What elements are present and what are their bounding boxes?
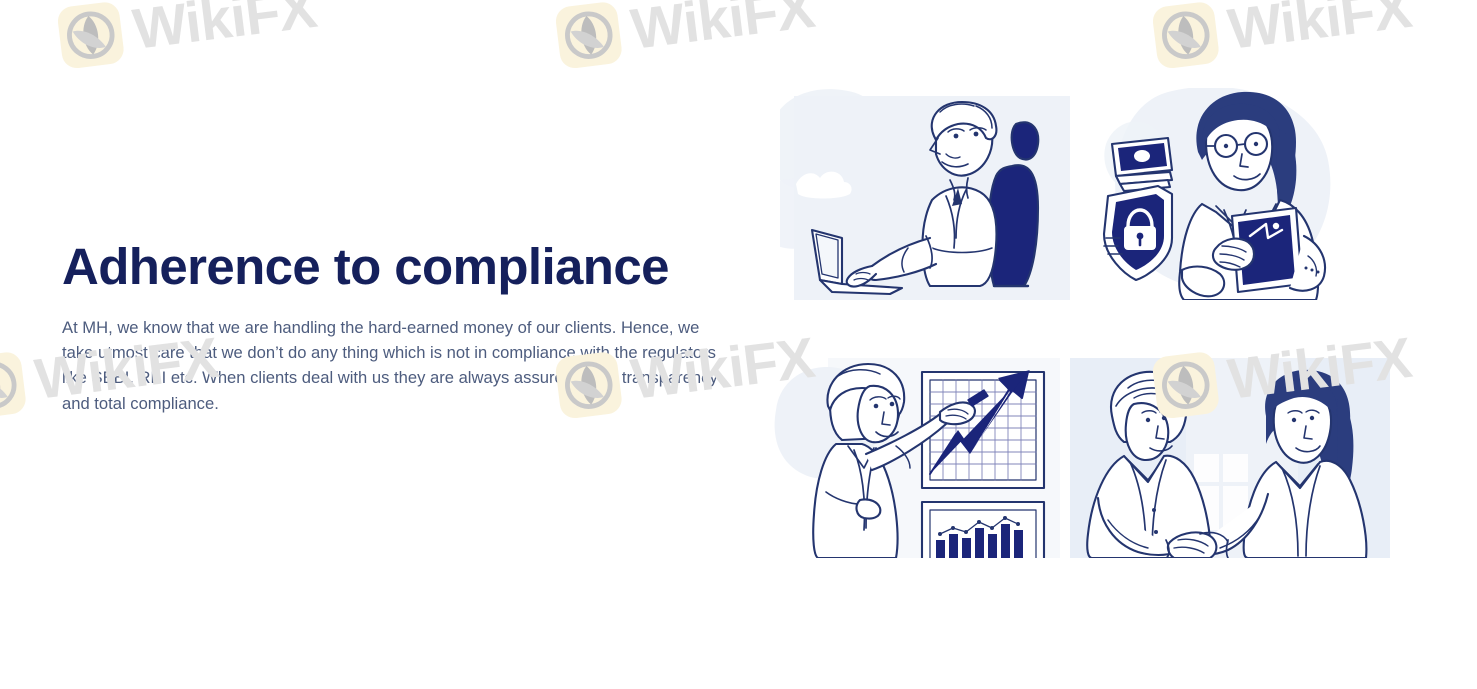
watermark-label: WikiFX [1225, 0, 1414, 58]
wikifx-aperture-logo-icon [554, 1, 623, 70]
content-block: Adherence to compliance At MH, we know t… [62, 240, 722, 416]
illustration-person-at-laptop [780, 88, 1070, 300]
illustration-business-handshake [1070, 358, 1390, 558]
wikifx-aperture-logo-icon [1151, 1, 1220, 70]
wikifx-aperture-logo-icon [56, 1, 125, 70]
illustration-grid [770, 78, 1410, 556]
watermark-label: WikiFX [628, 0, 817, 58]
watermark-top-left: WikiFX [56, 0, 319, 70]
illustration-woman-with-tablet-security [1090, 88, 1380, 300]
page-root: Adherence to compliance At MH, we know t… [0, 0, 1477, 689]
illustration-person-pointing-growth-chart [770, 358, 1060, 558]
wikifx-aperture-logo-icon [0, 351, 27, 420]
watermark-top-right: WikiFX [1151, 0, 1414, 70]
watermark-label: WikiFX [130, 0, 319, 58]
page-description: At MH, we know that we are handling the … [62, 315, 718, 416]
page-title: Adherence to compliance [62, 240, 722, 293]
watermark-top-center: WikiFX [554, 0, 817, 70]
